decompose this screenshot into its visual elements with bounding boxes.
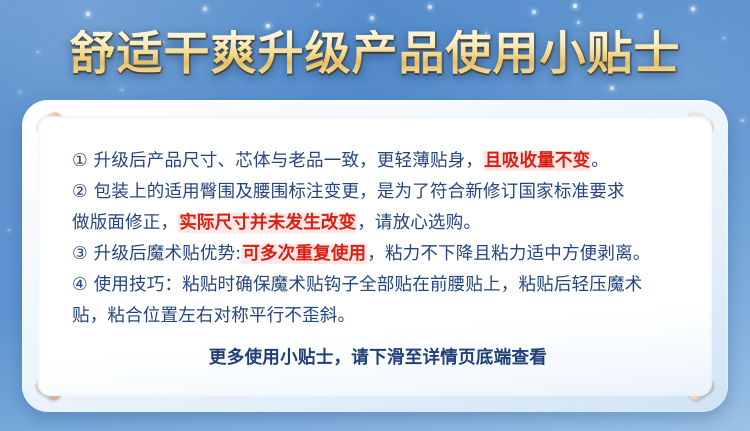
tip-text: 包装上的适用臀围及腰围标注变更，是为了符合新修订国家标准要求 <box>88 182 625 202</box>
tip-text: 。 <box>591 151 609 171</box>
sparkle-icon <box>86 12 90 16</box>
tip-line: 做版面修正，实际尺寸并未发生改变，请放心选购。 <box>72 208 684 239</box>
tip-text: 贴，粘合位置左右对称平行不歪斜。 <box>72 306 355 326</box>
tip-marker: ② <box>72 182 88 202</box>
tip-text: 升级后魔术贴优势: <box>88 244 241 264</box>
sparkle-icon <box>610 86 614 90</box>
tip-text: 使用技巧：粘贴时确保魔术贴钩子全部贴在前腰贴上，粘贴后轻压魔术 <box>88 275 642 295</box>
sparkle-icon <box>573 4 578 9</box>
tips-footnote: 更多使用小贴士，请下滑至详情页底端查看 <box>72 344 684 369</box>
tip-line: 贴，粘合位置左右对称平行不歪斜。 <box>72 301 684 332</box>
banner-canvas: 舒适干爽升级产品使用小贴士 舒适干爽升级产品使用小贴士 ① 升级后产品尺寸、芯体… <box>0 0 750 431</box>
tip-line: ① 升级后产品尺寸、芯体与老品一致，更轻薄贴身，且吸收量不变。 <box>72 146 684 177</box>
tips-board: ① 升级后产品尺寸、芯体与老品一致，更轻薄贴身，且吸收量不变。② 包装上的适用臀… <box>22 100 728 412</box>
sparkle-icon <box>691 7 695 11</box>
sparkle-icon <box>638 14 641 17</box>
tip-line: ④ 使用技巧：粘贴时确保魔术贴钩子全部贴在前腰贴上，粘贴后轻压魔术 <box>72 270 684 301</box>
tip-highlight-text: 实际尺寸并未发生改变 <box>178 213 357 233</box>
tip-text: 做版面修正， <box>72 213 178 233</box>
tips-content: ① 升级后产品尺寸、芯体与老品一致，更轻薄贴身，且吸收量不变。② 包装上的适用臀… <box>72 146 684 378</box>
sparkle-icon <box>741 119 744 122</box>
sparkle-icon <box>370 16 373 19</box>
tip-line: ② 包装上的适用臀围及腰围标注变更，是为了符合新修订国家标准要求 <box>72 177 684 208</box>
tip-marker: ① <box>72 151 88 171</box>
page-title-text: 舒适干爽升级产品使用小贴士 <box>70 30 681 76</box>
sparkle-icon <box>532 10 536 14</box>
tip-line: ③ 升级后魔术贴优势:可多次重复使用，粘力不下降且粘力适中方便剥离。 <box>72 239 684 270</box>
tip-highlight-text: 可多次重复使用 <box>241 244 367 264</box>
sparkle-icon <box>8 229 11 232</box>
tip-highlight-text: 且吸收量不变 <box>483 151 591 171</box>
tip-marker: ③ <box>72 244 88 264</box>
tips-board-inner: ① 升级后产品尺寸、芯体与老品一致，更轻薄贴身，且吸收量不变。② 包装上的适用臀… <box>38 116 712 396</box>
sparkle-icon <box>317 4 320 7</box>
tip-marker: ④ <box>72 275 88 295</box>
tips-list: ① 升级后产品尺寸、芯体与老品一致，更轻薄贴身，且吸收量不变。② 包装上的适用臀… <box>72 146 684 332</box>
sparkle-icon <box>19 91 21 93</box>
sparkle-icon <box>121 89 124 92</box>
tip-text: ，请放心选购。 <box>357 213 481 233</box>
tip-text: 升级后产品尺寸、芯体与老品一致，更轻薄贴身， <box>88 151 483 171</box>
sparkle-icon <box>428 5 432 9</box>
tip-text: ，粘力不下降且粘力适中方便剥离。 <box>367 244 650 264</box>
sparkle-icon <box>203 7 206 10</box>
page-title: 舒适干爽升级产品使用小贴士 舒适干爽升级产品使用小贴士 <box>0 22 750 84</box>
